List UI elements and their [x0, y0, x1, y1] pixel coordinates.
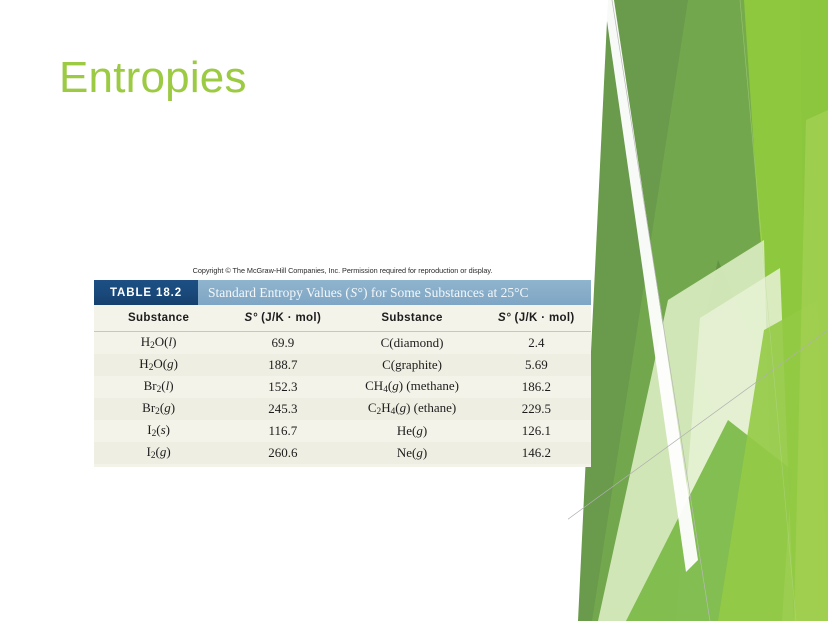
facet-shard-paler-overlay [676, 268, 794, 621]
table-caption-suffix: ) for Some Substances at 25°C [363, 285, 529, 301]
cell-substance-right: C2H4(g) (ethane) [342, 398, 481, 420]
column-header-entropy-left-units: (J/K · mol) [258, 312, 322, 324]
facet-shard-right-column [764, 0, 828, 621]
cell-substance-right: Ne(g) [342, 442, 481, 464]
table-row: H2O(l)69.9C(diamond)2.4 [94, 332, 591, 355]
column-header-entropy-left-symbol: S° [245, 312, 258, 324]
facet-shard-lower-bright [718, 300, 828, 621]
cell-entropy-right: 229.5 [482, 398, 591, 420]
facet-shard-dark-wedge [578, 0, 780, 621]
cell-entropy-left: 116.7 [223, 420, 342, 442]
cell-entropy-right: 126.1 [482, 420, 591, 442]
cell-entropy-left: 245.3 [223, 398, 342, 420]
entropy-values-table: Substance S° (J/K · mol) Substance S° (J… [94, 305, 591, 464]
table-caption-prefix: Standard Entropy Values ( [208, 285, 350, 301]
table-caption-symbol: S° [350, 285, 363, 301]
cell-entropy-right: 186.2 [482, 376, 591, 398]
cell-entropy-right: 5.69 [482, 354, 591, 376]
table-banner: TABLE 18.2 Standard Entropy Values (S°) … [94, 280, 591, 305]
cell-substance-left: I2(g) [94, 442, 223, 464]
facet-shard-white-sliver [604, 0, 698, 572]
table-number-badge: TABLE 18.2 [94, 280, 198, 305]
cell-substance-right: CH4(g) (methane) [342, 376, 481, 398]
cell-substance-right: He(g) [342, 420, 481, 442]
facet-hairline-shallow [568, 330, 828, 621]
entropy-table-figure: Copyright © The McGraw-Hill Companies, I… [94, 266, 591, 467]
cell-substance-right: C(diamond) [342, 332, 481, 355]
page-title: Entropies [59, 54, 247, 102]
table-row: Br2(l)152.3CH4(g) (methane)186.2 [94, 376, 591, 398]
facet-shard-pale-lower [598, 240, 774, 621]
table-caption: Standard Entropy Values (S°) for Some Su… [198, 280, 591, 305]
cell-entropy-left: 69.9 [223, 332, 342, 355]
column-header-entropy-right-units: (J/K · mol) [511, 312, 575, 324]
table-header-row: Substance S° (J/K · mol) Substance S° (J… [94, 305, 591, 332]
column-header-substance-left: Substance [94, 305, 223, 332]
facet-shard-bright-wedge [672, 0, 808, 621]
facet-decoration-graphic [568, 0, 828, 621]
column-header-entropy-left: S° (J/K · mol) [223, 305, 342, 332]
column-header-substance-left-label: Substance [128, 312, 189, 324]
column-header-substance-right: Substance [342, 305, 481, 332]
table-body: H2O(l)69.9C(diamond)2.4H2O(g)188.7C(grap… [94, 332, 591, 465]
slide-canvas: Entropies Copyright © The McGraw-Hill Co… [0, 0, 828, 621]
cell-substance-left: H2O(l) [94, 332, 223, 355]
facet-shard-right-strip [794, 110, 828, 621]
facet-shard-deep-triangle [696, 260, 774, 470]
table-row: Br2(g)245.3C2H4(g) (ethane)229.5 [94, 398, 591, 420]
column-header-substance-right-label: Substance [381, 312, 442, 324]
table-head: Substance S° (J/K · mol) Substance S° (J… [94, 305, 591, 332]
table-row: H2O(g)188.7C(graphite)5.69 [94, 354, 591, 376]
cell-substance-left: H2O(g) [94, 354, 223, 376]
cell-entropy-right: 146.2 [482, 442, 591, 464]
table-row: I2(s)116.7He(g)126.1 [94, 420, 591, 442]
column-header-entropy-right: S° (J/K · mol) [482, 305, 591, 332]
facet-hairline-edge [740, 0, 796, 621]
cell-substance-left: Br2(l) [94, 376, 223, 398]
table-row: I2(g)260.6Ne(g)146.2 [94, 442, 591, 464]
column-header-entropy-right-symbol: S° [498, 312, 511, 324]
table-bottom-edge [94, 464, 591, 467]
copyright-notice: Copyright © The McGraw-Hill Companies, I… [94, 266, 591, 275]
facet-shard-lower-mid-green [626, 420, 792, 621]
facet-shard-mid-wedge [592, 0, 772, 621]
cell-substance-left: Br2(g) [94, 398, 223, 420]
cell-entropy-left: 260.6 [223, 442, 342, 464]
cell-substance-right: C(graphite) [342, 354, 481, 376]
cell-entropy-left: 152.3 [223, 376, 342, 398]
facet-hairline-steep [612, 0, 710, 621]
cell-substance-left: I2(s) [94, 420, 223, 442]
cell-entropy-right: 2.4 [482, 332, 591, 355]
cell-entropy-left: 188.7 [223, 354, 342, 376]
